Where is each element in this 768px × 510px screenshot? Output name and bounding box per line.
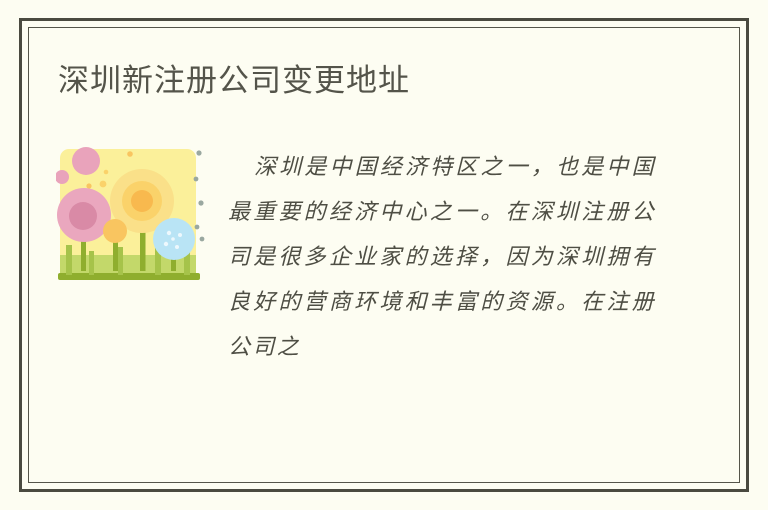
- article-paragraph: 深圳是中国经济特区之一，也是中国最重要的经济中心之一。在深圳注册公司是很多企业家…: [228, 145, 656, 370]
- flowers-illustration: [56, 143, 206, 303]
- article-content: 深圳新注册公司变更地址: [28, 27, 740, 483]
- page-title: 深圳新注册公司变更地址: [58, 59, 410, 103]
- document-page: 深圳新注册公司变更地址: [0, 0, 768, 510]
